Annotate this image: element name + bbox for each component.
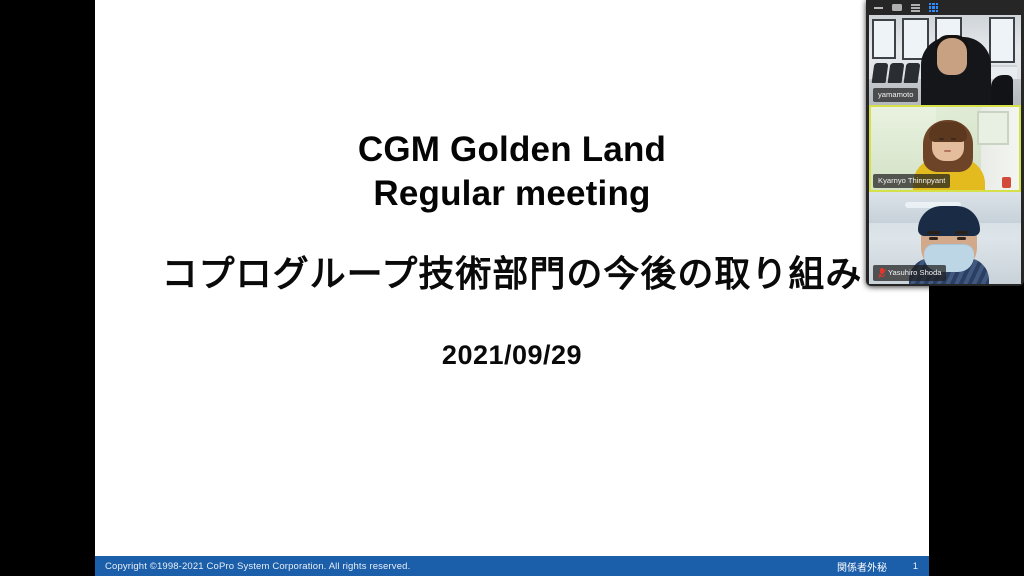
gallery-view-icon[interactable] [929,3,938,12]
participant-name: Yasuhiro Shoda [888,269,941,277]
participant-name-badge: Yasuhiro Shoda [873,265,946,281]
minimize-icon[interactable] [874,7,883,9]
page-number: 1 [913,561,918,572]
slide-title-line-1: CGM Golden Land [358,128,666,172]
confidential-label: 関係者外秘 [837,559,887,574]
presentation-slide: CGM Golden Land Regular meeting コプログループ技… [95,0,929,576]
participant-tile[interactable]: Kyarnyo Thinnpyant [869,105,1021,192]
zoom-titlebar[interactable] [866,0,1024,15]
speaker-view-icon[interactable] [911,4,920,12]
slide-title: CGM Golden Land Regular meeting [358,128,666,216]
restore-icon[interactable] [892,4,902,11]
slide-date: 2021/09/29 [442,340,582,371]
slide-footer: Copyright ©1998-2021 CoPro System Corpor… [95,556,929,576]
slide-title-line-2: Regular meeting [358,172,666,216]
participant-tile[interactable]: Yasuhiro Shoda [869,192,1021,284]
participant-tile[interactable]: yamamoto [869,15,1021,105]
participant-name: yamamoto [878,91,913,99]
participant-tiles: yamamoto Ky [866,15,1024,286]
slide-content: CGM Golden Land Regular meeting コプログループ技… [95,0,929,556]
muted-microphone-icon [878,268,885,278]
participant-name-badge: Kyarnyo Thinnpyant [873,174,950,188]
participant-name: Kyarnyo Thinnpyant [878,177,945,185]
participant-name-badge: yamamoto [873,88,918,102]
screen: CGM Golden Land Regular meeting コプログループ技… [0,0,1024,576]
slide-subtitle-japanese: コプログループ技術部門の今後の取り組み [162,254,863,294]
zoom-video-panel[interactable]: yamamoto Ky [866,0,1024,286]
copyright-text: Copyright ©1998-2021 CoPro System Corpor… [105,561,410,572]
